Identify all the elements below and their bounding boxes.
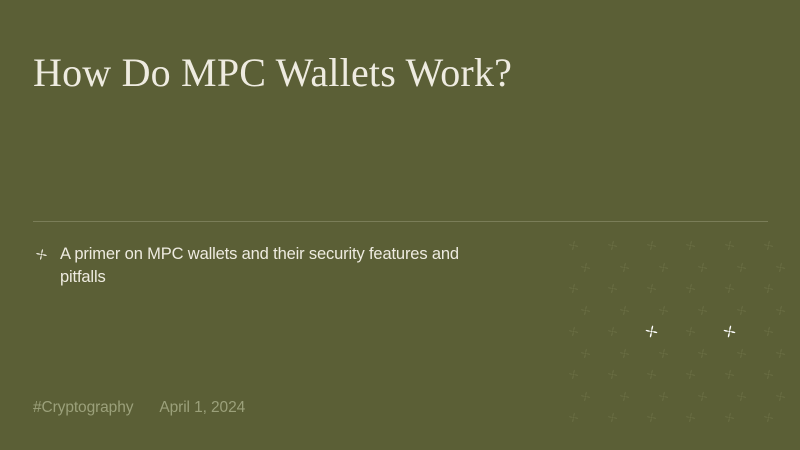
pinwheel-icon xyxy=(773,260,788,275)
pinwheel-pattern-row xyxy=(566,410,800,425)
pinwheel-icon xyxy=(683,410,698,425)
pinwheel-icon xyxy=(683,324,698,339)
pinwheel-icon xyxy=(722,281,737,296)
pinwheel-pattern xyxy=(566,238,800,434)
pinwheel-pattern-row xyxy=(566,238,800,253)
pinwheel-icon xyxy=(566,324,581,339)
pinwheel-pattern-row xyxy=(566,324,800,339)
pinwheel-icon xyxy=(761,367,776,382)
pinwheel-icon xyxy=(605,238,620,253)
pinwheel-icon xyxy=(578,303,593,318)
pinwheel-icon xyxy=(566,410,581,425)
pinwheel-pattern-row xyxy=(566,281,800,296)
pinwheel-icon xyxy=(578,346,593,361)
pinwheel-icon xyxy=(683,238,698,253)
slide-canvas: How Do MPC Wallets Work? A primer on MPC… xyxy=(0,0,800,450)
subtitle-block: A primer on MPC wallets and their securi… xyxy=(33,243,503,289)
pinwheel-icon xyxy=(761,410,776,425)
pinwheel-icon xyxy=(695,389,710,404)
pinwheel-icon xyxy=(683,281,698,296)
pinwheel-icon xyxy=(617,260,632,275)
pinwheel-icon xyxy=(734,260,749,275)
pinwheel-icon xyxy=(656,346,671,361)
pinwheel-icon xyxy=(566,367,581,382)
pinwheel-icon xyxy=(734,346,749,361)
pinwheel-pattern-row xyxy=(578,346,800,361)
pinwheel-icon xyxy=(734,303,749,318)
pinwheel-icon xyxy=(656,389,671,404)
pinwheel-icon xyxy=(644,281,659,296)
pinwheel-pattern-row xyxy=(578,260,800,275)
pinwheel-icon xyxy=(773,346,788,361)
page-title: How Do MPC Wallets Work? xyxy=(33,47,753,99)
pinwheel-icon xyxy=(761,324,776,339)
pinwheel-icon xyxy=(773,303,788,318)
pinwheel-icon xyxy=(617,303,632,318)
pinwheel-icon xyxy=(605,410,620,425)
footer-tag: #Cryptography xyxy=(33,398,133,418)
pinwheel-icon xyxy=(656,303,671,318)
pinwheel-icon xyxy=(761,238,776,253)
pinwheel-icon xyxy=(605,367,620,382)
pinwheel-icon-highlighted xyxy=(722,324,737,339)
pinwheel-icon xyxy=(605,281,620,296)
pinwheel-icon xyxy=(605,324,620,339)
pinwheel-icon xyxy=(656,260,671,275)
pinwheel-icon xyxy=(617,346,632,361)
pinwheel-icon xyxy=(644,410,659,425)
divider xyxy=(33,221,768,222)
pinwheel-icon xyxy=(695,303,710,318)
pinwheel-icon xyxy=(644,367,659,382)
pinwheel-icon xyxy=(734,389,749,404)
pinwheel-icon xyxy=(722,367,737,382)
pinwheel-icon xyxy=(695,260,710,275)
pinwheel-icon xyxy=(695,346,710,361)
footer: #Cryptography April 1, 2024 xyxy=(33,398,245,418)
pinwheel-icon xyxy=(761,281,776,296)
pinwheel-icon xyxy=(566,238,581,253)
pinwheel-icon xyxy=(566,281,581,296)
pinwheel-icon xyxy=(722,410,737,425)
footer-date: April 1, 2024 xyxy=(159,398,245,418)
pinwheel-icon xyxy=(683,367,698,382)
pinwheel-pattern-row xyxy=(578,303,800,318)
pinwheel-pattern-row xyxy=(578,389,800,404)
pinwheel-icon xyxy=(617,389,632,404)
pinwheel-icon xyxy=(773,389,788,404)
pinwheel-icon xyxy=(33,246,50,263)
pinwheel-pattern-row xyxy=(566,367,800,382)
subtitle-text: A primer on MPC wallets and their securi… xyxy=(60,243,492,289)
pinwheel-icon-highlighted xyxy=(644,324,659,339)
pinwheel-icon xyxy=(644,238,659,253)
pinwheel-icon xyxy=(578,260,593,275)
pinwheel-icon xyxy=(578,389,593,404)
pinwheel-icon xyxy=(722,238,737,253)
